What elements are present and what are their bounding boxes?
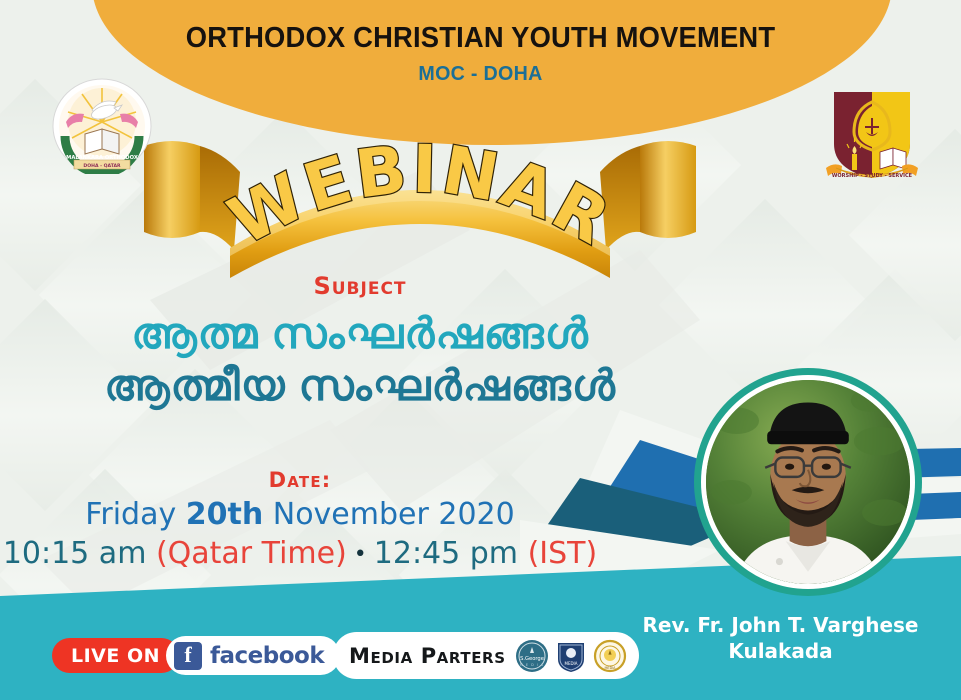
st-george-media-logo: S.George M E D I A: [515, 639, 549, 673]
date-value: Friday 20th November 2020: [0, 497, 600, 532]
live-on-badge: LIVE ON: [52, 638, 179, 673]
svg-text:M E D I A: M E D I A: [519, 663, 543, 667]
subject-line-2: ആത്മീയ സംഘർഷങ്ങൾ: [0, 360, 720, 412]
speaker-name: Rev. Fr. John T. Varghese Kulakada: [600, 612, 961, 664]
webinar-ribbon: WEBINAR: [140, 128, 700, 288]
time-ist: 12:45 pm: [374, 536, 528, 571]
partner-logo-list: S.George M E D I A MEDIA MEDIA: [515, 639, 627, 673]
svg-text:MEDIA: MEDIA: [564, 661, 577, 666]
facebook-badge[interactable]: f facebook: [166, 636, 340, 675]
svg-text:MEDIA: MEDIA: [604, 666, 616, 670]
ocym-shield-logo: WORSHIP - STUDY - SERVICE: [818, 82, 926, 186]
date-month-year: November 2020: [263, 497, 514, 532]
svg-text:WORSHIP - STUDY - SERVICE: WORSHIP - STUDY - SERVICE: [832, 173, 913, 179]
time-qatar: 10:15 am: [3, 536, 156, 571]
speaker-portrait: [706, 380, 910, 584]
speaker-name-line-2: Kulakada: [600, 638, 961, 664]
media-partners-label: Media Parters: [349, 644, 506, 668]
header-text-group: ORTHODOX CHRISTIAN YOUTH MOVEMENT MOC - …: [0, 22, 961, 86]
malankara-orthodox-church-logo: MALANKARA ORTHODOX DOHA - QATAR: [52, 78, 152, 170]
svg-text:DOHA - QATAR: DOHA - QATAR: [83, 163, 121, 169]
shield-media-logo: MEDIA: [554, 639, 588, 673]
speaker-name-line-1: Rev. Fr. John T. Varghese: [600, 612, 961, 638]
page-title: ORTHODOX CHRISTIAN YOUTH MOVEMENT: [19, 22, 942, 55]
page-subtitle: MOC - DOHA: [19, 62, 942, 86]
time-ist-zone: (IST): [528, 536, 598, 571]
time-value: 10:15 am (Qatar Time) • 12:45 pm (IST): [0, 536, 600, 571]
date-day: Friday: [85, 497, 185, 532]
subject-block: Subject ആത്മ സംഘർഷങ്ങൾ ആത്മീയ സംഘർഷങ്ങൾ: [0, 272, 720, 413]
time-qatar-zone: (Qatar Time): [156, 536, 347, 571]
svg-text:S.George: S.George: [520, 656, 544, 662]
facebook-label: facebook: [210, 643, 324, 669]
media-partners-badge: Media Parters S.George M E D I A MEDIA: [333, 632, 639, 679]
webinar-poster: ORTHODOX CHRISTIAN YOUTH MOVEMENT MOC - …: [0, 0, 961, 700]
date-day-number: 20th: [186, 497, 263, 532]
date-label: Date:: [0, 468, 600, 492]
speaker-photo-white-ring: [701, 375, 915, 589]
facebook-icon: f: [174, 642, 202, 670]
time-separator: •: [347, 542, 374, 567]
date-block: Date: Friday 20th November 2020 10:15 am…: [0, 468, 600, 571]
speaker-photo-frame: [694, 368, 922, 596]
subject-line-1: ആത്മ സംഘർഷങ്ങൾ: [0, 308, 720, 360]
gold-emblem-logo: MEDIA: [593, 639, 627, 673]
